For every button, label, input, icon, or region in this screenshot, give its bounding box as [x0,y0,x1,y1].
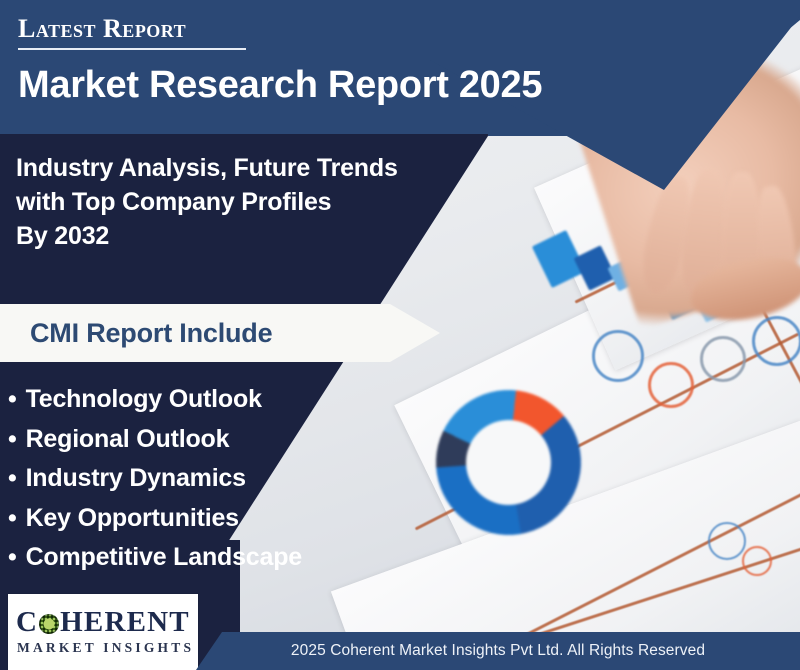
copyright-text: 2025 Coherent Market Insights Pvt Ltd. A… [291,642,705,660]
cmi-report-include-ribbon: CMI Report Include [0,304,440,362]
subtitle: Industry Analysis, Future Trends with To… [16,152,556,253]
page-title: Market Research Report 2025 [18,66,542,106]
report-cover-poster: Latest Report Market Research Report 202… [0,0,800,670]
list-item: Technology Outlook [8,380,438,420]
report-include-list: Technology Outlook Regional Outlook Indu… [8,380,438,578]
photo-ring-chart [708,522,746,560]
ribbon-label: CMI Report Include [30,318,272,349]
list-item: Regional Outlook [8,420,438,460]
logo-wordmark: CHERENT [16,608,190,637]
subtitle-line-2: with Top Company Profiles [16,186,556,220]
subtitle-line-1: Industry Analysis, Future Trends [16,152,556,186]
footer-bar: 2025 Coherent Market Insights Pvt Ltd. A… [196,632,800,670]
subtitle-line-3: By 2032 [16,220,556,254]
logo-word-before: C [16,606,38,638]
coherent-market-insights-logo: CHERENT MARKET INSIGHTS [8,594,198,670]
photo-ring-chart [742,546,772,576]
photo-ring-chart [700,336,746,382]
list-item: Industry Dynamics [8,459,438,499]
photo-ring-chart [648,362,694,408]
logo-word-after: HERENT [60,606,190,638]
kicker-underline [18,48,246,50]
photo-ring-chart [592,330,644,382]
list-item: Competitive Landscape [8,538,438,578]
logo-tagline: MARKET INSIGHTS [17,641,194,655]
photo-ring-chart [752,316,800,366]
kicker-label: Latest Report [18,16,186,42]
globe-icon [39,614,59,634]
list-item: Key Opportunities [8,499,438,539]
